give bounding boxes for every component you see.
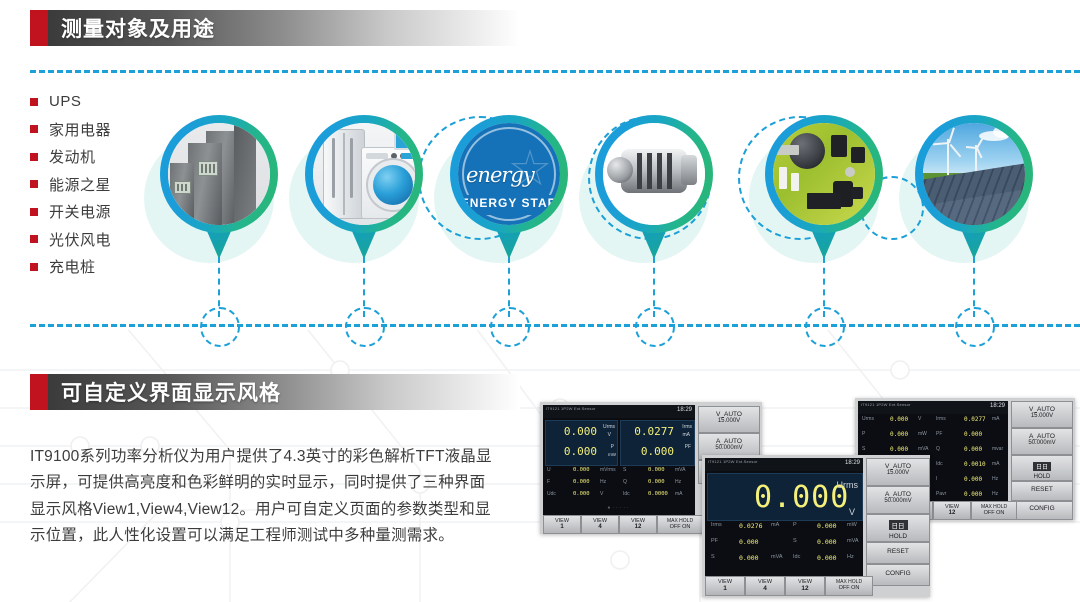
device-screen-view1[interactable]: IT9121 1P2W Ext.Sensor 18:29 0.000 Urms … xyxy=(702,455,930,597)
view1-primary-reading: 0.000 Urms V xyxy=(707,473,863,521)
pin-engine-alternator[interactable] xyxy=(595,115,713,261)
view12-button-reset[interactable]: RESET xyxy=(1011,481,1073,501)
view1-big-unit: V xyxy=(849,507,855,517)
energy-star-band: ENERGY STAR xyxy=(458,196,560,210)
section1-gradient-bar: 测量对象及用途 xyxy=(48,10,520,46)
view1-tab-view1[interactable]: VIEW 1 xyxy=(705,576,745,596)
view12-tab-view12[interactable]: VIEW 12 xyxy=(933,501,971,520)
pin-ups[interactable] xyxy=(160,115,278,261)
view1-big-value: 0.000 xyxy=(754,480,849,515)
view4-cell1-unit: V xyxy=(608,432,611,438)
view4-cell2-label: Irms xyxy=(682,424,692,430)
view1-tab-view4[interactable]: VIEW 4 xyxy=(745,576,785,596)
view1-statusbar: IT9121 1P2W Ext.Sensor 18:29 xyxy=(705,458,863,471)
view1-button-reset[interactable]: RESET xyxy=(866,542,930,564)
table-row: Udc 0.000 V Idc 0.0000 mA xyxy=(543,491,695,502)
view1-parameter-table: Irms 0.0276 mA P 0.000 mW PF 0.000 S 0.0… xyxy=(705,522,863,572)
section1-red-marker xyxy=(30,10,48,46)
view1-tab-view12[interactable]: VIEW 12 xyxy=(785,576,825,596)
pin-image-energy-star: energy ENERGY STAR xyxy=(458,123,560,225)
view4-cell2-value: 0.0277 xyxy=(634,425,674,438)
application-pin-row: energy ENERGY STAR xyxy=(0,100,1080,335)
section1-title: 测量对象及用途 xyxy=(48,13,215,43)
table-row: U 0.000 mVrms S 0.000 mVA xyxy=(543,467,695,478)
pin-image-ups xyxy=(168,123,270,225)
view1-clock: 18:29 xyxy=(845,460,860,466)
view4-button-v-auto[interactable]: V_AUTO 15.000V xyxy=(698,406,760,433)
view1-button-a-auto[interactable]: A_AUTO 50.000mV xyxy=(866,486,930,514)
view4-clock: 18:29 xyxy=(677,407,692,413)
view4-parameter-table: U 0.000 mVrms S 0.000 mVA F 0.000 Hz Q 0… xyxy=(543,467,695,503)
pin-energy-star[interactable]: energy ENERGY STAR xyxy=(450,115,568,261)
pin-drop-circle xyxy=(955,307,995,347)
section2-red-marker xyxy=(30,374,48,410)
pin-home-appliance[interactable] xyxy=(305,115,423,261)
view12-button-v-auto[interactable]: V_AUTO 15.000V xyxy=(1011,401,1073,428)
table-row: S 0.000 mVA Idc 0.000 Hz xyxy=(705,554,863,569)
pin-image-alternator xyxy=(603,123,705,225)
view4-page-dots: ●····· xyxy=(543,505,695,511)
pin-drop-circle xyxy=(805,307,845,347)
pin-drop-circle xyxy=(635,307,675,347)
section2-header: 可自定义界面显示风格 xyxy=(30,374,520,410)
view1-big-label: Urms xyxy=(837,480,859,490)
view4-cell-2: 0.0277 Irms mA 0.000 PF xyxy=(620,420,695,466)
view4-status-text: IT9121 1P2W Ext.Sensor xyxy=(546,406,596,411)
view4-cell2-unit: mA xyxy=(683,432,691,438)
pin-drop-circle xyxy=(345,307,385,347)
table-row: F 0.000 Hz Q 0.000 Hz xyxy=(543,479,695,490)
energy-star-word: energy xyxy=(466,163,534,187)
view4-button-max-hold[interactable]: MAX HOLD OFF ON xyxy=(657,515,703,534)
view4-cell3-unit: mW xyxy=(608,452,616,457)
pin-image-home-appliance xyxy=(313,123,415,225)
view12-statusbar: IT9121 1P2W Ext.Sensor 18:29 xyxy=(858,401,1008,414)
view4-cell3-label: P xyxy=(611,444,614,450)
table-row: P 0.000 mW PF 0.000 xyxy=(858,431,1008,445)
view4-cell1-value: 0.000 xyxy=(564,425,597,438)
view4-statusbar: IT9121 1P2W Ext.Sensor 18:29 xyxy=(543,405,695,418)
pin-image-solar-wind xyxy=(923,123,1025,225)
view1-button-config[interactable]: CONFIG xyxy=(866,564,930,586)
section2-paragraph: IT9100系列功率分析仪为用户提供了4.3英寸的彩色解析TFT液晶显示屏，可提… xyxy=(30,444,500,550)
pin-drop-circle xyxy=(200,307,240,347)
section2-gradient-bar: 可自定义界面显示风格 xyxy=(48,374,520,410)
section1-dashed-divider xyxy=(30,70,1080,73)
view4-cell4-value: 0.000 xyxy=(641,445,674,458)
page-root: 测量对象及用途 UPS 家用电器 发动机 能源之星 开关电源 光伏风电 xyxy=(0,0,1080,602)
view1-button-hold[interactable]: 日日 HOLD xyxy=(866,514,930,542)
view4-lcd: IT9121 1P2W Ext.Sensor 18:29 0.000 Urms … xyxy=(543,405,695,531)
view12-status-text: IT9121 1P2W Ext.Sensor xyxy=(861,402,911,407)
view12-button-max-hold[interactable]: MAX HOLD OFF ON xyxy=(971,501,1017,520)
table-row: Irms 0.0276 mA P 0.000 mW xyxy=(705,522,863,537)
section2-title: 可自定义界面显示风格 xyxy=(48,377,281,407)
view1-button-max-hold[interactable]: MAX HOLD OFF ON xyxy=(825,576,873,596)
view12-clock: 18:29 xyxy=(990,403,1005,409)
view4-tab-view12[interactable]: VIEW 12 xyxy=(619,515,657,534)
pin-solar-wind[interactable] xyxy=(915,115,1033,261)
view12-button-hold[interactable]: 日日 HOLD xyxy=(1011,455,1073,481)
view4-cell1-label: Urms xyxy=(603,424,615,430)
view12-button-a-auto[interactable]: A_AUTO 50.000mV xyxy=(1011,428,1073,455)
view4-cell-1: 0.000 Urms V 0.000 P mW xyxy=(545,420,618,466)
section1-header: 测量对象及用途 xyxy=(30,10,520,46)
pin-image-pcb xyxy=(773,123,875,225)
view4-tab-view4[interactable]: VIEW 4 xyxy=(581,515,619,534)
table-row: Urms 0.000 V Irms 0.0277 mA xyxy=(858,416,1008,430)
table-row: PF 0.000 S 0.000 mVA xyxy=(705,538,863,553)
view1-button-v-auto[interactable]: V_AUTO 15.000V xyxy=(866,458,930,486)
view4-cell4-label: PF xyxy=(685,444,691,450)
view1-lcd: IT9121 1P2W Ext.Sensor 18:29 0.000 Urms … xyxy=(705,458,863,594)
view4-tab-view1[interactable]: VIEW 1 xyxy=(543,515,581,534)
view12-button-config[interactable]: CONFIG xyxy=(1011,501,1073,520)
pin-switching-power-supply[interactable] xyxy=(765,115,883,261)
view1-status-text: IT9121 1P2W Ext.Sensor xyxy=(708,459,758,464)
view4-cell3-value: 0.000 xyxy=(564,445,597,458)
pin-baseline-rail xyxy=(30,324,1080,327)
pin-drop-circle xyxy=(490,307,530,347)
